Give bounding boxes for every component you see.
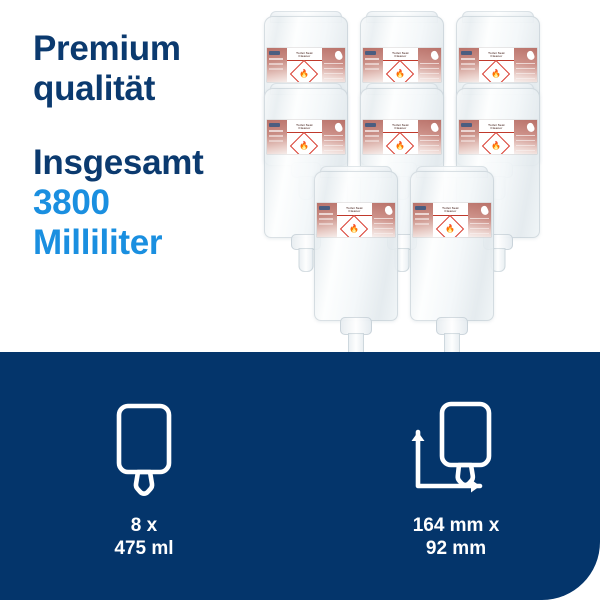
label-product-name: Toilet Seat Cleaner [296, 52, 313, 59]
label-left-panel [413, 203, 434, 237]
bottle-label: Toilet Seat Cleaner 🔥 [363, 48, 442, 82]
bottle-label: Toilet Seat Cleaner 🔥 [267, 48, 346, 82]
flame-icon: 🔥 [491, 142, 501, 150]
label-center-panel: Toilet Seat Cleaner 🔥 [479, 120, 514, 154]
label-product-name: Toilet Seat Cleaner [442, 207, 459, 214]
label-center-panel: Toilet Seat Cleaner 🔥 [287, 48, 322, 82]
label-product-name: Toilet Seat Cleaner [488, 52, 505, 59]
ghs-flame-pictogram: 🔥 [386, 59, 414, 82]
spec-quantity: 8 x 475 ml [54, 392, 234, 560]
label-right-panel [468, 203, 492, 237]
bottle-body [410, 171, 494, 321]
label-product-name: Toilet Seat Cleaner [346, 207, 363, 214]
headline-spacer [33, 109, 283, 143]
label-right-panel [514, 48, 538, 82]
ghs-flame-pictogram: 🔥 [436, 214, 464, 237]
headline-line-premium: Premium [33, 29, 283, 69]
flame-icon: 🔥 [349, 225, 359, 233]
bottle-label: Toilet Seat Cleaner 🔥 [413, 203, 492, 237]
headline-line-qualitaet: qualität [33, 69, 283, 109]
bottle-label: Toilet Seat Cleaner 🔥 [317, 203, 396, 237]
label-left-panel [459, 120, 480, 154]
label-center-panel: Toilet Seat Cleaner 🔥 [383, 48, 418, 82]
spec-row: 8 x 475 ml 164 mm x 92 mm [0, 352, 600, 600]
label-right-panel [418, 48, 442, 82]
bottle-icon [109, 392, 179, 500]
ghs-flame-pictogram: 🔥 [386, 131, 414, 154]
label-right-panel [514, 120, 538, 154]
flame-icon: 🔥 [299, 142, 309, 150]
label-center-panel: Toilet Seat Cleaner 🔥 [337, 203, 372, 237]
label-center-panel: Toilet Seat Cleaner 🔥 [433, 203, 468, 237]
label-center-panel: Toilet Seat Cleaner 🔥 [287, 120, 322, 154]
spec-panel: 8 x 475 ml 164 mm x 92 mm [0, 352, 600, 600]
bottle-label: Toilet Seat Cleaner 🔥 [363, 120, 442, 154]
ghs-flame-pictogram: 🔥 [482, 59, 510, 82]
label-left-panel [317, 203, 338, 237]
headline-line-insgesamt: Insgesamt [33, 143, 283, 183]
ghs-flame-pictogram: 🔥 [482, 131, 510, 154]
label-product-name: Toilet Seat Cleaner [392, 124, 409, 131]
product-bottle: Toilet Seat Cleaner 🔥 [410, 171, 494, 321]
product-bottle: Toilet Seat Cleaner 🔥 [314, 171, 398, 321]
bottle-label: Toilet Seat Cleaner 🔥 [459, 48, 538, 82]
flame-icon: 🔥 [491, 70, 501, 78]
headline-block: Premium qualität Insgesamt 3800 Millilit… [33, 29, 283, 263]
ghs-flame-pictogram: 🔥 [290, 131, 318, 154]
label-right-panel [322, 48, 346, 82]
label-right-panel [372, 203, 396, 237]
label-right-panel [418, 120, 442, 154]
product-photo: Toilet Seat Cleaner 🔥 Toilet Seat Cleane… [258, 8, 594, 344]
flame-icon: 🔥 [299, 70, 309, 78]
label-product-name: Toilet Seat Cleaner [296, 124, 313, 131]
label-left-panel [363, 48, 384, 82]
label-center-panel: Toilet Seat Cleaner 🔥 [383, 120, 418, 154]
label-left-panel [267, 48, 288, 82]
flame-icon: 🔥 [445, 225, 455, 233]
flame-icon: 🔥 [395, 70, 405, 78]
label-right-panel [322, 120, 346, 154]
ghs-flame-pictogram: 🔥 [340, 214, 368, 237]
flame-icon: 🔥 [395, 142, 405, 150]
spec-dimensions-text: 164 mm x 92 mm [413, 514, 500, 560]
label-center-panel: Toilet Seat Cleaner 🔥 [479, 48, 514, 82]
bottle-dimensions-icon [404, 392, 508, 500]
label-left-panel [363, 120, 384, 154]
label-left-panel [267, 120, 288, 154]
ghs-flame-pictogram: 🔥 [290, 59, 318, 82]
bottle-label: Toilet Seat Cleaner 🔥 [267, 120, 346, 154]
label-product-name: Toilet Seat Cleaner [392, 52, 409, 59]
infographic-canvas: Premium qualität Insgesamt 3800 Millilit… [0, 0, 600, 600]
spec-quantity-text: 8 x 475 ml [114, 514, 173, 560]
bottle-body [314, 171, 398, 321]
label-left-panel [459, 48, 480, 82]
label-product-name: Toilet Seat Cleaner [488, 124, 505, 131]
spec-dimensions: 164 mm x 92 mm [366, 392, 546, 560]
bottle-stem [299, 248, 314, 272]
bottle-label: Toilet Seat Cleaner 🔥 [459, 120, 538, 154]
headline-total-unit: Milliliter [33, 223, 283, 263]
headline-total-volume: 3800 [33, 183, 283, 223]
